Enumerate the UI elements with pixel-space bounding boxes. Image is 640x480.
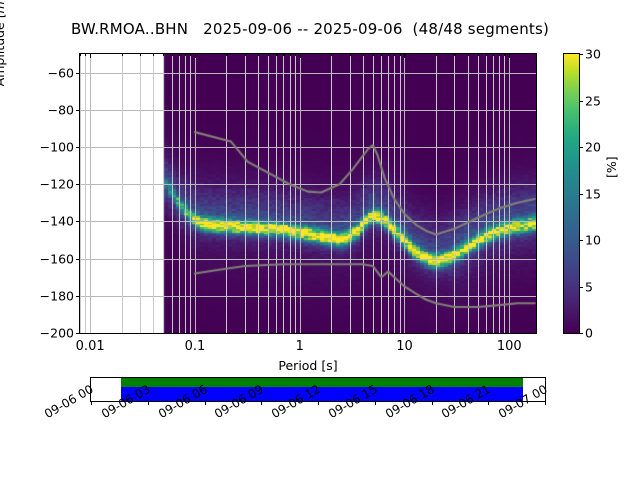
x-tick-mark	[300, 54, 301, 58]
y-tick-label: −80	[48, 102, 74, 117]
y-tick-label: −60	[48, 65, 74, 80]
x-tick-mark-minor	[185, 54, 186, 56]
x-tick-mark-minor	[350, 54, 351, 56]
x-tick-mark-minor	[499, 54, 500, 56]
x-tick-mark-minor	[290, 54, 291, 56]
x-tick-mark-minor	[373, 54, 374, 56]
colorbar-tick-label: 5	[585, 279, 593, 294]
x-tick-mark-minor	[172, 54, 173, 56]
colorbar-tick-mark	[579, 101, 583, 102]
timeline-tick-label: 09-06 00	[42, 382, 96, 421]
x-tick-mark-minor	[226, 54, 227, 56]
colorbar-tick-mark	[579, 240, 583, 241]
colorbar-tick-label: 10	[585, 233, 601, 248]
timeline-tick-mark	[432, 401, 433, 405]
x-tick-mark-minor	[331, 54, 332, 56]
x-tick-mark-minor	[504, 54, 505, 56]
x-tick-mark-minor	[486, 54, 487, 56]
y-tick-mark	[76, 147, 80, 148]
x-tick-mark-minor	[295, 54, 296, 56]
x-tick-mark	[404, 54, 405, 58]
colorbar-tick-label: 30	[585, 47, 601, 62]
y-tick-label: −140	[40, 214, 74, 229]
timeline-tick-mark	[261, 401, 262, 405]
timeline-tick-mark	[318, 401, 319, 405]
colorbar: 051015202530	[563, 53, 580, 334]
y-tick-mark	[76, 73, 80, 74]
x-tick-mark-minor	[190, 54, 191, 56]
x-tick-mark-minor	[179, 54, 180, 56]
timeline-tick-mark	[148, 401, 149, 405]
x-tick-mark-minor	[454, 54, 455, 56]
y-tick-label: −120	[40, 177, 74, 192]
y-tick-label: −180	[40, 288, 74, 303]
colorbar-tick-label: 25	[585, 93, 601, 108]
x-tick-mark-minor	[122, 54, 123, 56]
y-tick-label: −160	[40, 251, 74, 266]
colorbar-tick-label: 15	[585, 186, 601, 201]
colorbar-tick-mark	[579, 287, 583, 288]
ppsd-figure: BW.RMOA..BHN 2025-09-06 -- 2025-09-06 (4…	[0, 0, 640, 480]
timeline-band-green	[121, 378, 523, 387]
colorbar-tick-mark	[579, 333, 583, 334]
colorbar-tick-label: 0	[585, 326, 593, 341]
y-tick-mark	[76, 221, 80, 222]
x-tick-mark	[509, 54, 510, 58]
y-tick-label: −100	[40, 140, 74, 155]
colorbar-tick-label: 20	[585, 140, 601, 155]
x-tick-mark-minor	[80, 54, 81, 56]
timeline-tick-mark	[205, 401, 206, 405]
x-tick-mark-minor	[163, 54, 164, 56]
x-tick-mark	[195, 54, 196, 58]
y-tick-label: −200	[40, 326, 74, 341]
x-tick-label: 100	[497, 339, 522, 354]
figure-title: BW.RMOA..BHN 2025-09-06 -- 2025-09-06 (4…	[0, 20, 620, 38]
x-tick-mark-minor	[85, 54, 86, 56]
x-tick-mark-minor	[283, 54, 284, 56]
timeline-tick-mark	[375, 401, 376, 405]
x-tick-mark-minor	[245, 54, 246, 56]
colorbar-tick-mark	[579, 194, 583, 195]
y-axis-label: Amplitude [m2/s4/Hz] [dB]	[0, 0, 7, 135]
x-tick-mark	[90, 54, 91, 58]
y-tick-mark	[76, 184, 80, 185]
colorbar-label: [%]	[604, 156, 619, 178]
x-tick-mark-minor	[153, 54, 154, 56]
x-tick-label: 1	[296, 339, 304, 354]
x-tick-mark-minor	[363, 54, 364, 56]
x-tick-mark-minor	[400, 54, 401, 56]
x-tick-mark-minor	[394, 54, 395, 56]
x-tick-mark-minor	[258, 54, 259, 56]
timeline-tick-mark	[545, 401, 546, 405]
x-tick-mark-minor	[268, 54, 269, 56]
x-tick-label: 0.1	[185, 339, 206, 354]
x-tick-mark-minor	[478, 54, 479, 56]
x-tick-label: 10	[396, 339, 413, 354]
x-axis-label: Period [s]	[79, 358, 537, 373]
ppsd-axes: −60−80−100−120−140−160−180−200 0.010.111…	[79, 53, 537, 334]
y-tick-mark	[76, 296, 80, 297]
timeline-tick-mark	[488, 401, 489, 405]
x-tick-mark-minor	[436, 54, 437, 56]
x-tick-mark-minor	[493, 54, 494, 56]
ppsd-plot-area	[80, 54, 536, 333]
noise-model-curves	[80, 54, 536, 333]
y-tick-mark	[76, 259, 80, 260]
x-tick-mark-minor	[468, 54, 469, 56]
x-tick-label: 0.01	[76, 339, 105, 354]
colorbar-tick-mark	[579, 147, 583, 148]
y-tick-mark	[76, 110, 80, 111]
timeline-tick-mark	[91, 401, 92, 405]
x-tick-mark-minor	[381, 54, 382, 56]
colorbar-tick-mark	[579, 54, 583, 55]
x-tick-mark-minor	[140, 54, 141, 56]
x-tick-mark-minor	[388, 54, 389, 56]
y-tick-mark	[76, 333, 80, 334]
x-tick-mark-minor	[276, 54, 277, 56]
